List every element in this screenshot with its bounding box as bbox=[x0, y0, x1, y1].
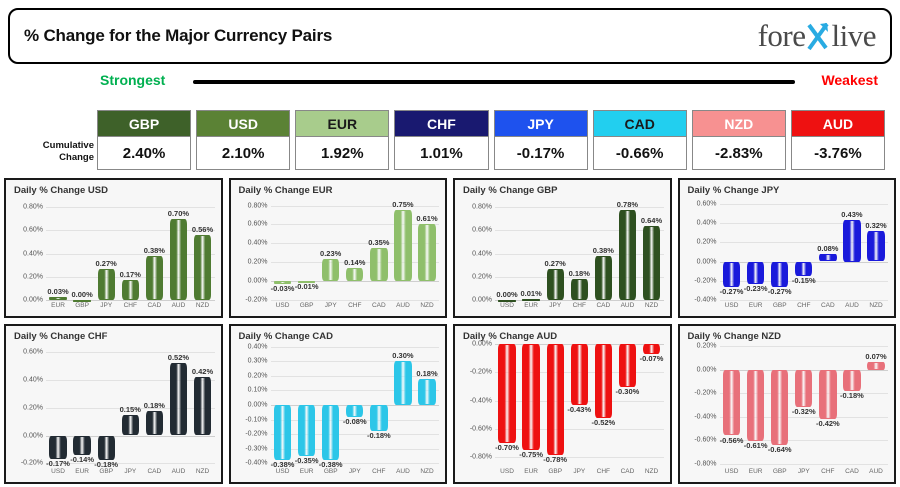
chart-daily-change-eur: Daily % Change EUR0.80%0.60%0.40%0.20%0.… bbox=[229, 178, 448, 318]
y-axis: 0.40%0.30%0.20%0.10%0.00%-0.10%-0.20%-0.… bbox=[231, 344, 271, 466]
y-axis-tick-label: 0.00% bbox=[248, 402, 268, 409]
x-axis-tick-label: AUD bbox=[166, 468, 190, 482]
chart-daily-change-jpy: Daily % Change JPY0.60%0.40%0.20%0.00%-0… bbox=[678, 178, 897, 318]
x-axis-tick-label: USD bbox=[271, 468, 295, 482]
bar-slot-nzd: 0.64% bbox=[639, 198, 663, 300]
x-axis-tick-label: AUD bbox=[391, 302, 415, 316]
bar-slot-nzd: 0.61% bbox=[415, 198, 439, 300]
bar-usd bbox=[498, 344, 515, 443]
x-axis-tick-label: NZD bbox=[864, 302, 888, 316]
y-axis-tick-label: 0.20% bbox=[697, 239, 717, 246]
bar-slot-gbp: -0.38% bbox=[319, 344, 343, 466]
bar-slot-chf: -0.52% bbox=[591, 344, 615, 466]
currency-strength-cell-usd: USD2.10% bbox=[196, 110, 290, 172]
bar-slot-aud: 0.52% bbox=[166, 344, 190, 466]
bar-value-label-usd: 0.00% bbox=[496, 290, 517, 299]
bar-jpy bbox=[547, 269, 564, 300]
bar-slot-jpy: -0.43% bbox=[567, 344, 591, 466]
bar-slot-cad: 0.08% bbox=[816, 198, 840, 300]
x-axis-tick-label: NZD bbox=[415, 302, 439, 316]
bar-eur bbox=[747, 262, 764, 284]
y-axis-tick-label: 0.40% bbox=[697, 220, 717, 227]
y-axis-tick-label: -0.20% bbox=[470, 369, 492, 376]
y-axis: 0.20%0.00%-0.20%-0.40%-0.60%-0.80% bbox=[680, 344, 720, 466]
bar-gbp bbox=[771, 262, 788, 288]
cumulative-label-line1: Cumulative bbox=[2, 140, 94, 152]
bar-slot-cad: 0.38% bbox=[591, 198, 615, 300]
x-axis-tick-label: AUD bbox=[391, 468, 415, 482]
y-axis-tick-label: -0.40% bbox=[470, 397, 492, 404]
bar-jpy bbox=[98, 269, 115, 300]
bar-cad bbox=[370, 248, 387, 281]
bar-slot-jpy: -0.32% bbox=[792, 344, 816, 466]
x-axis-tick-label: CHF bbox=[367, 468, 391, 482]
y-axis-tick-label: 0.60% bbox=[248, 221, 268, 228]
zero-line bbox=[495, 300, 664, 301]
bar-value-label-eur: -0.23% bbox=[744, 284, 768, 293]
x-axis-tick-label: CHF bbox=[792, 302, 816, 316]
bar-series: -0.70%-0.75%-0.78%-0.43%-0.52%-0.30%-0.0… bbox=[495, 344, 664, 466]
bar-slot-aud: 0.75% bbox=[391, 198, 415, 300]
bar-slot-eur: 0.03% bbox=[46, 198, 70, 300]
page-title: % Change for the Major Currency Pairs bbox=[24, 26, 332, 46]
bar-value-label-usd: -0.56% bbox=[720, 436, 744, 445]
x-axis-tick-label: AUD bbox=[615, 302, 639, 316]
bar-slot-aud: 0.78% bbox=[615, 198, 639, 300]
gridline bbox=[720, 300, 889, 301]
y-axis-tick-label: 0.00% bbox=[472, 341, 492, 348]
x-axis-tick-label: NZD bbox=[639, 302, 663, 316]
bar-value-label-chf: -0.52% bbox=[591, 418, 615, 427]
bar-cad bbox=[819, 254, 836, 262]
bar-value-label-nzd: 0.61% bbox=[416, 214, 437, 223]
bar-slot-gbp: -0.01% bbox=[295, 198, 319, 300]
chart-plot-area: 0.80%0.60%0.40%0.20%0.00%0.03%0.00%0.27%… bbox=[6, 198, 219, 316]
bar-slot-eur: -0.35% bbox=[295, 344, 319, 466]
x-axis-tick-label: AUD bbox=[166, 302, 190, 316]
zero-line bbox=[46, 300, 215, 301]
gridline bbox=[271, 300, 440, 301]
currency-code-usd: USD bbox=[196, 110, 290, 137]
chart-daily-change-nzd: Daily % Change NZD0.20%0.00%-0.20%-0.40%… bbox=[678, 324, 897, 484]
bar-aud bbox=[394, 210, 411, 281]
bar-slot-jpy: 0.23% bbox=[319, 198, 343, 300]
bar-slot-usd: 0.00% bbox=[495, 198, 519, 300]
bar-value-label-cad: 0.18% bbox=[144, 401, 165, 410]
bar-value-label-cad: -0.30% bbox=[616, 387, 640, 396]
bar-value-label-nzd: -0.07% bbox=[640, 354, 664, 363]
chart-title: Daily % Change EUR bbox=[239, 185, 333, 196]
y-axis-tick-label: 0.60% bbox=[472, 227, 492, 234]
currency-code-aud: AUD bbox=[791, 110, 885, 137]
bar-slot-nzd: 0.42% bbox=[190, 344, 214, 466]
bar-chf bbox=[370, 405, 387, 431]
x-axis: USDGBPJPYCHFCADAUDNZD bbox=[271, 302, 440, 316]
y-axis: 0.60%0.40%0.20%0.00%-0.20%-0.40% bbox=[680, 198, 720, 300]
x-axis: USDEURGBPJPYCHFAUDNZD bbox=[271, 468, 440, 482]
chart-plot-area: 0.60%0.40%0.20%0.00%-0.20%-0.17%-0.14%-0… bbox=[6, 344, 219, 482]
chart-daily-change-cad: Daily % Change CAD0.40%0.30%0.20%0.10%0.… bbox=[229, 324, 448, 484]
x-axis-tick-label: USD bbox=[720, 468, 744, 482]
x-axis: USDEURGBPJPYCHFCADNZD bbox=[495, 468, 664, 482]
x-axis-tick-label: EUR bbox=[744, 302, 768, 316]
x-axis-tick-label: JPY bbox=[94, 302, 118, 316]
bar-value-label-aud: 0.07% bbox=[865, 352, 886, 361]
bar-slot-chf: -0.42% bbox=[816, 344, 840, 466]
bar-value-label-jpy: 0.27% bbox=[96, 259, 117, 268]
bar-slot-cad: -0.18% bbox=[840, 344, 864, 466]
x-axis-tick-label: USD bbox=[495, 302, 519, 316]
x-axis-tick-label: JPY bbox=[792, 468, 816, 482]
currency-strength-cell-nzd: NZD-2.83% bbox=[692, 110, 786, 172]
bar-slot-usd: -0.03% bbox=[271, 198, 295, 300]
y-axis-tick-label: 0.80% bbox=[23, 204, 43, 211]
x-axis-tick-label: CAD bbox=[816, 302, 840, 316]
bar-aud bbox=[843, 220, 860, 261]
bar-value-label-aud: 0.30% bbox=[392, 351, 413, 360]
bar-slot-gbp: -0.78% bbox=[543, 344, 567, 466]
y-axis-tick-label: 0.00% bbox=[697, 258, 717, 265]
bar-value-label-cad: 0.35% bbox=[368, 238, 389, 247]
chart-daily-change-chf: Daily % Change CHF0.60%0.40%0.20%0.00%-0… bbox=[4, 324, 223, 484]
x-axis-tick-label: CAD bbox=[142, 468, 166, 482]
bar-series: -0.38%-0.35%-0.38%-0.08%-0.18%0.30%0.18% bbox=[271, 344, 440, 466]
x-axis-tick-label: USD bbox=[720, 302, 744, 316]
y-axis-tick-label: -0.20% bbox=[694, 390, 716, 397]
bar-slot-gbp: -0.18% bbox=[94, 344, 118, 466]
cumulative-value-aud: -3.76% bbox=[791, 137, 885, 170]
bar-slot-gbp: 0.00% bbox=[70, 198, 94, 300]
y-axis-tick-label: 0.30% bbox=[248, 358, 268, 365]
page-header: % Change for the Major Currency Pairs fo… bbox=[8, 8, 892, 64]
x-axis-tick-label: CHF bbox=[343, 302, 367, 316]
y-axis-tick-label: 0.20% bbox=[472, 273, 492, 280]
bar-slot-aud: 0.70% bbox=[166, 198, 190, 300]
x-axis-tick-label: CAD bbox=[591, 302, 615, 316]
x-axis-tick-label: CAD bbox=[142, 302, 166, 316]
x-axis-tick-label: NZD bbox=[190, 468, 214, 482]
bar-slot-chf: -0.15% bbox=[792, 198, 816, 300]
bar-slot-usd: -0.56% bbox=[720, 344, 744, 466]
bar-value-label-aud: 0.75% bbox=[392, 200, 413, 209]
bar-gbp bbox=[322, 405, 339, 460]
bar-chf bbox=[795, 262, 812, 276]
x-axis-tick-label: GBP bbox=[70, 302, 94, 316]
bar-series: -0.56%-0.61%-0.64%-0.32%-0.42%-0.18%0.07… bbox=[720, 344, 889, 466]
x-axis-tick-label: AUD bbox=[840, 302, 864, 316]
x-axis: USDEURJPYCHFCADAUDNZD bbox=[495, 302, 664, 316]
bar-slot-usd: -0.27% bbox=[720, 198, 744, 300]
bar-value-label-jpy: -0.32% bbox=[792, 407, 816, 416]
x-axis-tick-label: USD bbox=[495, 468, 519, 482]
x-axis-tick-label: EUR bbox=[744, 468, 768, 482]
x-axis-tick-label: AUD bbox=[864, 468, 888, 482]
chart-title: Daily % Change JPY bbox=[688, 185, 780, 196]
bar-chf bbox=[346, 268, 363, 281]
bar-jpy bbox=[346, 405, 363, 417]
chart-grid-area: -0.17%-0.14%-0.18%0.15%0.18%0.52%0.42% bbox=[46, 344, 215, 466]
y-axis-tick-label: -0.60% bbox=[694, 437, 716, 444]
bar-gbp bbox=[98, 436, 115, 461]
x-axis-tick-label: CAD bbox=[367, 302, 391, 316]
currency-code-gbp: GBP bbox=[97, 110, 191, 137]
bar-usd bbox=[274, 405, 291, 460]
y-axis-tick-label: 0.20% bbox=[697, 343, 717, 350]
x-axis-tick-label: EUR bbox=[519, 302, 543, 316]
y-axis-tick-label: -0.40% bbox=[694, 413, 716, 420]
currency-code-eur: EUR bbox=[295, 110, 389, 137]
bar-value-label-nzd: 0.18% bbox=[416, 369, 437, 378]
bar-value-label-chf: -0.42% bbox=[816, 419, 840, 428]
x-axis-tick-label: USD bbox=[271, 302, 295, 316]
x-axis-tick-label: GBP bbox=[768, 468, 792, 482]
bar-jpy bbox=[795, 370, 812, 408]
x-axis: USDEURGBPJPYCHFCADAUD bbox=[720, 468, 889, 482]
bar-nzd bbox=[418, 379, 435, 405]
y-axis-tick-label: 0.60% bbox=[23, 349, 43, 356]
bar-value-label-eur: -0.75% bbox=[519, 450, 543, 459]
x-axis-tick-label: EUR bbox=[70, 468, 94, 482]
y-axis-tick-label: -0.20% bbox=[694, 277, 716, 284]
y-axis-tick-label: 0.00% bbox=[23, 432, 43, 439]
chart-title: Daily % Change CHF bbox=[14, 331, 107, 342]
y-axis-tick-label: 0.00% bbox=[23, 297, 43, 304]
x-axis-tick-label: CAD bbox=[840, 468, 864, 482]
bar-value-label-jpy: 0.15% bbox=[120, 405, 141, 414]
bar-value-label-usd: -0.70% bbox=[495, 443, 519, 452]
bar-value-label-jpy: 0.27% bbox=[545, 259, 566, 268]
y-axis: 0.80%0.60%0.40%0.20%0.00% bbox=[6, 198, 46, 300]
x-axis-tick-label: JPY bbox=[118, 468, 142, 482]
bar-value-label-chf: 0.18% bbox=[569, 269, 590, 278]
y-axis-tick-label: 0.40% bbox=[23, 250, 43, 257]
bar-eur bbox=[49, 297, 66, 300]
y-axis: 0.60%0.40%0.20%0.00%-0.20% bbox=[6, 344, 46, 466]
logo-x-arrow-icon bbox=[806, 19, 832, 53]
x-axis-tick-label: EUR bbox=[295, 468, 319, 482]
currency-code-nzd: NZD bbox=[692, 110, 786, 137]
bar-eur bbox=[298, 405, 315, 456]
bar-slot-usd: -0.70% bbox=[495, 344, 519, 466]
bar-slot-usd: -0.17% bbox=[46, 344, 70, 466]
bar-slot-eur: -0.23% bbox=[744, 198, 768, 300]
bar-chf bbox=[122, 280, 139, 300]
bar-gbp bbox=[547, 344, 564, 455]
y-axis-tick-label: 0.40% bbox=[248, 240, 268, 247]
x-axis-tick-label: CHF bbox=[816, 468, 840, 482]
bar-gbp bbox=[771, 370, 788, 445]
forexlive-logo: fore live bbox=[758, 18, 876, 54]
cumulative-value-chf: 1.01% bbox=[394, 137, 488, 170]
chart-title: Daily % Change CAD bbox=[239, 331, 334, 342]
y-axis-tick-label: -0.40% bbox=[245, 460, 267, 467]
y-axis-tick-label: 0.00% bbox=[697, 366, 717, 373]
bar-value-label-aud: 0.70% bbox=[168, 209, 189, 218]
y-axis-tick-label: -0.60% bbox=[470, 426, 492, 433]
y-axis-tick-label: 0.40% bbox=[248, 343, 268, 350]
x-axis-tick-label: NZD bbox=[190, 302, 214, 316]
bar-usd bbox=[723, 262, 740, 288]
y-axis-tick-label: -0.80% bbox=[694, 460, 716, 467]
currency-strength-cell-aud: AUD-3.76% bbox=[791, 110, 885, 172]
cumulative-value-nzd: -2.83% bbox=[692, 137, 786, 170]
bar-slot-nzd: 0.56% bbox=[190, 198, 214, 300]
x-axis-tick-label: GBP bbox=[543, 468, 567, 482]
y-axis-tick-label: 0.80% bbox=[248, 202, 268, 209]
x-axis-tick-label: JPY bbox=[543, 302, 567, 316]
currency-code-cad: CAD bbox=[593, 110, 687, 137]
bar-cad bbox=[843, 370, 860, 391]
bar-nzd bbox=[643, 344, 660, 354]
bar-cad bbox=[146, 256, 163, 300]
bar-series: 0.03%0.00%0.27%0.17%0.38%0.70%0.56% bbox=[46, 198, 215, 300]
bar-chf bbox=[595, 344, 612, 418]
bar-eur bbox=[747, 370, 764, 442]
bar-jpy bbox=[122, 415, 139, 436]
x-axis-tick-label: GBP bbox=[319, 468, 343, 482]
bar-eur bbox=[522, 344, 539, 450]
x-axis-tick-label: NZD bbox=[415, 468, 439, 482]
chart-daily-change-usd: Daily % Change USD0.80%0.60%0.40%0.20%0.… bbox=[4, 178, 223, 318]
bar-value-label-eur: 0.03% bbox=[47, 287, 68, 296]
charts-grid: Daily % Change USD0.80%0.60%0.40%0.20%0.… bbox=[4, 178, 896, 483]
bar-value-label-cad: 0.38% bbox=[144, 246, 165, 255]
x-axis-tick-label: USD bbox=[46, 468, 70, 482]
bar-value-label-gbp: -0.64% bbox=[768, 445, 792, 454]
y-axis-tick-label: 0.20% bbox=[23, 404, 43, 411]
y-axis-tick-label: 0.20% bbox=[23, 273, 43, 280]
chart-plot-area: 0.80%0.60%0.40%0.20%0.00%-0.20%-0.03%-0.… bbox=[231, 198, 444, 316]
bar-series: -0.27%-0.23%-0.27%-0.15%0.08%0.43%0.32% bbox=[720, 198, 889, 300]
chart-grid-area: -0.70%-0.75%-0.78%-0.43%-0.52%-0.30%-0.0… bbox=[495, 344, 664, 466]
bar-slot-jpy: 0.15% bbox=[118, 344, 142, 466]
currency-strength-cell-chf: CHF1.01% bbox=[394, 110, 488, 172]
bar-value-label-nzd: 0.42% bbox=[192, 367, 213, 376]
bar-value-label-eur: -0.14% bbox=[70, 455, 94, 464]
chart-plot-area: 0.80%0.60%0.40%0.20%0.00%0.00%0.01%0.27%… bbox=[455, 198, 668, 316]
y-axis-tick-label: -0.80% bbox=[470, 454, 492, 461]
y-axis-tick-label: -0.30% bbox=[245, 445, 267, 452]
bar-slot-eur: 0.01% bbox=[519, 198, 543, 300]
cumulative-value-jpy: -0.17% bbox=[494, 137, 588, 170]
bar-value-label-usd: -0.27% bbox=[720, 287, 744, 296]
chart-title: Daily % Change USD bbox=[14, 185, 108, 196]
bar-nzd bbox=[194, 377, 211, 435]
y-axis-tick-label: 0.10% bbox=[248, 387, 268, 394]
bar-slot-nzd: -0.07% bbox=[639, 344, 663, 466]
currency-code-chf: CHF bbox=[394, 110, 488, 137]
bar-slot-eur: -0.75% bbox=[519, 344, 543, 466]
bar-value-label-eur: -0.61% bbox=[744, 441, 768, 450]
x-axis: EURGBPJPYCHFCADAUDNZD bbox=[46, 302, 215, 316]
chart-plot-area: 0.60%0.40%0.20%0.00%-0.20%-0.40%-0.27%-0… bbox=[680, 198, 893, 316]
bar-eur bbox=[73, 436, 90, 455]
bar-nzd bbox=[194, 235, 211, 300]
x-axis-tick-label: EUR bbox=[46, 302, 70, 316]
currency-code-jpy: JPY bbox=[494, 110, 588, 137]
bar-slot-gbp: -0.27% bbox=[768, 198, 792, 300]
x-axis-tick-label: GBP bbox=[295, 302, 319, 316]
bar-nzd bbox=[643, 226, 660, 300]
weakest-label: Weakest bbox=[821, 72, 878, 88]
bar-aud bbox=[394, 361, 411, 405]
y-axis-tick-label: -0.20% bbox=[21, 460, 43, 467]
chart-title: Daily % Change GBP bbox=[463, 185, 558, 196]
bar-value-label-aud: 0.78% bbox=[617, 200, 638, 209]
bar-slot-cad: 0.38% bbox=[142, 198, 166, 300]
bar-slot-cad: 0.35% bbox=[367, 198, 391, 300]
y-axis-tick-label: -0.20% bbox=[245, 297, 267, 304]
x-axis-tick-label: CHF bbox=[591, 468, 615, 482]
currency-strength-cell-jpy: JPY-0.17% bbox=[494, 110, 588, 172]
bar-slot-nzd: 0.32% bbox=[864, 198, 888, 300]
y-axis-tick-label: 0.40% bbox=[472, 250, 492, 257]
bar-nzd bbox=[418, 224, 435, 282]
y-axis-tick-label: -0.20% bbox=[245, 431, 267, 438]
x-axis-tick-label: CAD bbox=[615, 468, 639, 482]
bar-aud bbox=[170, 219, 187, 300]
bar-slot-nzd: 0.18% bbox=[415, 344, 439, 466]
y-axis-tick-label: -0.10% bbox=[245, 416, 267, 423]
chart-plot-area: 0.00%-0.20%-0.40%-0.60%-0.80%-0.70%-0.75… bbox=[455, 344, 668, 482]
bar-value-label-usd: -0.03% bbox=[271, 284, 295, 293]
x-axis-tick-label: GBP bbox=[768, 302, 792, 316]
chart-grid-area: 0.03%0.00%0.27%0.17%0.38%0.70%0.56% bbox=[46, 198, 215, 300]
chart-grid-area: -0.03%-0.01%0.23%0.14%0.35%0.75%0.61% bbox=[271, 198, 440, 300]
bar-slot-jpy: 0.27% bbox=[94, 198, 118, 300]
bar-value-label-jpy: 0.23% bbox=[320, 249, 341, 258]
currency-strength-cell-eur: EUR1.92% bbox=[295, 110, 389, 172]
bar-value-label-nzd: 0.32% bbox=[865, 221, 886, 230]
bar-value-label-gbp: -0.01% bbox=[295, 282, 319, 291]
logo-text-pre: fore bbox=[758, 18, 806, 54]
bar-slot-chf: 0.17% bbox=[118, 198, 142, 300]
bar-value-label-cad: 0.38% bbox=[593, 246, 614, 255]
x-axis-tick-label: JPY bbox=[319, 302, 343, 316]
bar-value-label-nzd: 0.56% bbox=[192, 225, 213, 234]
bar-slot-jpy: 0.27% bbox=[543, 198, 567, 300]
bar-jpy bbox=[322, 259, 339, 281]
bar-value-label-aud: 0.43% bbox=[841, 210, 862, 219]
y-axis-tick-label: 0.00% bbox=[248, 278, 268, 285]
bar-eur bbox=[522, 299, 539, 301]
bar-value-label-chf: -0.18% bbox=[367, 431, 391, 440]
bar-value-label-gbp: 0.00% bbox=[71, 290, 92, 299]
bar-value-label-chf: 0.14% bbox=[344, 258, 365, 267]
bar-aud bbox=[867, 362, 884, 370]
bar-value-label-nzd: 0.64% bbox=[641, 216, 662, 225]
x-axis-tick-label: GBP bbox=[94, 468, 118, 482]
x-axis-tick-label: JPY bbox=[343, 468, 367, 482]
bar-nzd bbox=[867, 231, 884, 262]
x-axis-tick-label: JPY bbox=[567, 468, 591, 482]
chart-grid-area: -0.27%-0.23%-0.27%-0.15%0.08%0.43%0.32% bbox=[720, 198, 889, 300]
x-axis-tick-label: EUR bbox=[519, 468, 543, 482]
cumulative-label-line2: Change bbox=[2, 152, 94, 164]
bar-slot-eur: -0.61% bbox=[744, 344, 768, 466]
bar-aud bbox=[619, 210, 636, 300]
bar-value-label-gbp: -0.27% bbox=[768, 287, 792, 296]
bar-value-label-cad: 0.08% bbox=[817, 244, 838, 253]
y-axis: 0.80%0.60%0.40%0.20%0.00%-0.20% bbox=[231, 198, 271, 300]
bar-value-label-jpy: -0.08% bbox=[343, 417, 367, 426]
strongest-label: Strongest bbox=[100, 72, 165, 88]
bar-value-label-chf: 0.17% bbox=[120, 270, 141, 279]
y-axis-tick-label: 0.40% bbox=[23, 377, 43, 384]
y-axis-tick-label: 0.60% bbox=[23, 227, 43, 234]
bar-slot-aud: 0.43% bbox=[840, 198, 864, 300]
bar-slot-aud: 0.30% bbox=[391, 344, 415, 466]
